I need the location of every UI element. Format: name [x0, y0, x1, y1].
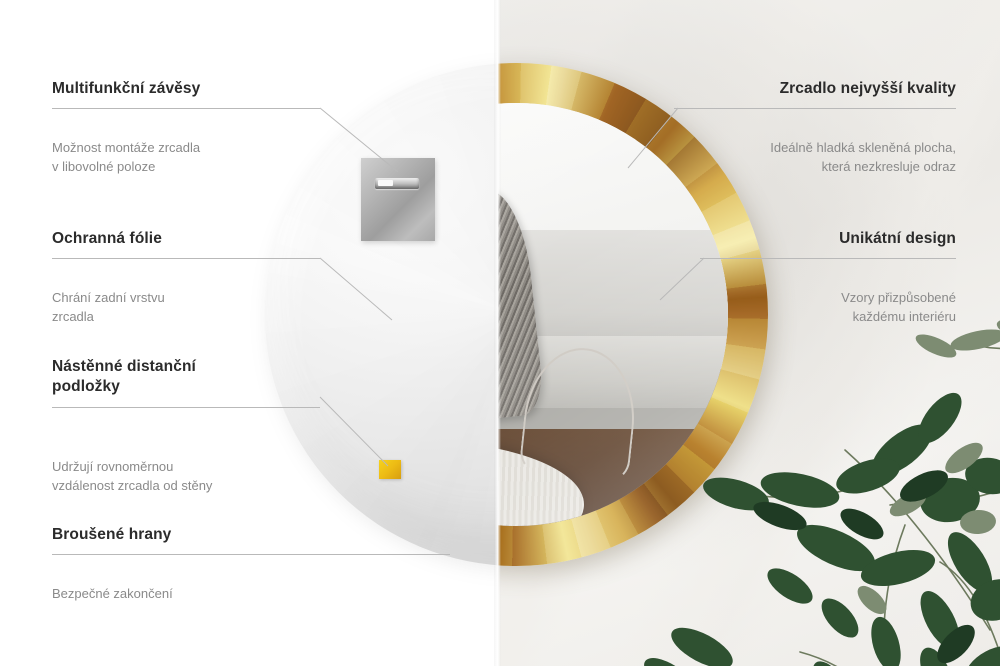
- callout-title: Broušené hrany: [52, 525, 462, 545]
- wall-spacer-pad: [379, 460, 401, 479]
- callout-description: Ideálně hladká skleněná plocha, která ne…: [626, 139, 956, 177]
- callout-unikatni-design: Unikátní design Vzory přizpůsobené každé…: [626, 229, 956, 327]
- callout-title: Nástěnné distanční podložky: [52, 357, 382, 397]
- panel-divider: [494, 0, 501, 666]
- callout-rule: [700, 258, 956, 259]
- callout-description: Možnost montáže zrcadla v libovolné polo…: [52, 139, 382, 177]
- callout-nastenne-distancni-podlozky: Nástěnné distanční podložky Udržují rovn…: [52, 357, 382, 496]
- callout-rule: [52, 554, 450, 555]
- callout-multifunkcni-zavesy: Multifunkční závěsy Možnost montáže zrca…: [52, 79, 382, 177]
- callout-rule: [52, 258, 320, 259]
- callout-description: Udržují rovnoměrnou vzdálenost zrcadla o…: [52, 458, 382, 496]
- callout-ochranna-folie: Ochranná fólie Chrání zadní vrstvu zrcad…: [52, 229, 382, 327]
- callout-zrcadlo-nejvyssi-kvality: Zrcadlo nejvyšší kvality Ideálně hladká …: [626, 79, 956, 177]
- callout-title: Multifunkční závěsy: [52, 79, 382, 99]
- foliage-branches: [640, 300, 1000, 666]
- callout-title: Ochranná fólie: [52, 229, 382, 249]
- callout-rule: [52, 407, 320, 408]
- callout-rule: [52, 108, 320, 109]
- callout-description: Chrání zadní vrstvu zrcadla: [52, 289, 382, 327]
- hanger-slot: [375, 178, 419, 189]
- callout-rule: [674, 108, 956, 109]
- callout-title: Unikátní design: [626, 229, 956, 249]
- callout-title: Zrcadlo nejvyšší kvality: [626, 79, 956, 99]
- callout-description: Vzory přizpůsobené každému interiéru: [626, 289, 956, 327]
- callout-brousene-hrany: Broušené hrany Bezpečné zakončení: [52, 525, 462, 604]
- infographic-canvas: Multifunkční závěsy Možnost montáže zrca…: [0, 0, 1000, 666]
- callout-description: Bezpečné zakončení: [52, 585, 462, 604]
